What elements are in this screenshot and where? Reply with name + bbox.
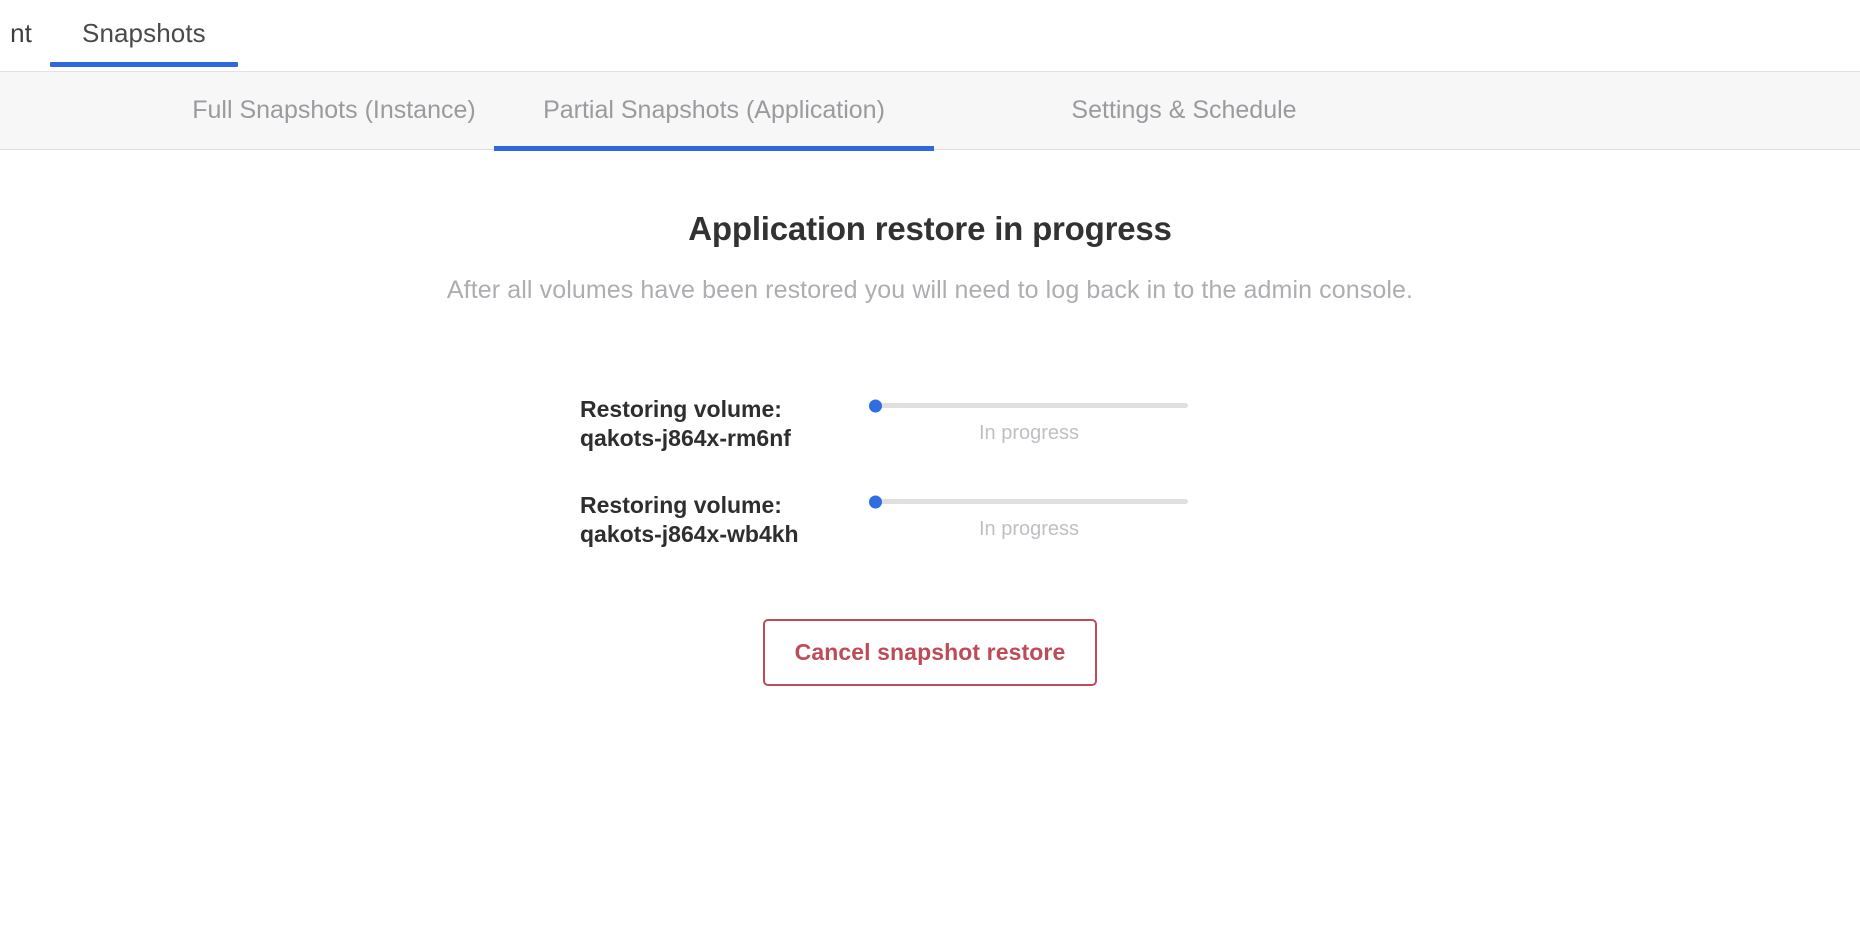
progress-bar-track (870, 403, 1188, 408)
primary-nav: nt Snapshots (0, 0, 1860, 71)
progress-bar-indicator-dot (869, 495, 882, 508)
volume-label: Restoring volume: qakots-j864x-rm6nf (580, 393, 870, 453)
tab-snapshots-active-underline (50, 62, 238, 67)
volume-label: Restoring volume: qakots-j864x-wb4kh (580, 489, 870, 549)
progress-bar-track (870, 499, 1188, 504)
page-subtitle: After all volumes have been restored you… (0, 248, 1860, 305)
tab-clipped-left[interactable]: nt (0, 0, 32, 67)
subtab-partial-snapshots-application[interactable]: Partial Snapshots (Application) (494, 72, 934, 150)
subtab-full-snapshots-instance-label: Full Snapshots (Instance) (192, 96, 475, 125)
restore-progress-panel: Application restore in progress After al… (0, 150, 1860, 686)
tab-snapshots[interactable]: Snapshots (68, 0, 220, 67)
volume-restore-row: Restoring volume: qakots-j864x-wb4kh In … (580, 489, 1280, 549)
tab-snapshots-label: Snapshots (82, 18, 206, 49)
volume-label-prefix: Restoring volume: (580, 491, 858, 520)
primary-nav-tabs: nt Snapshots (0, 0, 220, 67)
subtab-settings-and-schedule[interactable]: Settings & Schedule (1004, 72, 1364, 150)
volume-progress: In progress (870, 489, 1280, 541)
volume-name: qakots-j864x-wb4kh (580, 520, 858, 549)
subtab-partial-snapshots-application-label: Partial Snapshots (Application) (543, 96, 885, 125)
progress-status-text: In progress (870, 504, 1188, 541)
tab-clipped-left-label: nt (10, 18, 32, 49)
volume-restore-row: Restoring volume: qakots-j864x-rm6nf In … (580, 393, 1280, 453)
volume-name: qakots-j864x-rm6nf (580, 424, 858, 453)
cancel-snapshot-restore-button[interactable]: Cancel snapshot restore (763, 619, 1098, 686)
volume-label-prefix: Restoring volume: (580, 395, 858, 424)
subtab-partial-snapshots-application-underline (494, 146, 934, 151)
progress-status-text: In progress (870, 408, 1188, 445)
actions-row: Cancel snapshot restore (0, 585, 1860, 686)
page-title: Application restore in progress (0, 192, 1860, 248)
volume-restore-list: Restoring volume: qakots-j864x-rm6nf In … (580, 305, 1280, 585)
subtab-full-snapshots-instance[interactable]: Full Snapshots (Instance) (174, 72, 494, 150)
subtab-settings-and-schedule-label: Settings & Schedule (1071, 96, 1296, 125)
progress-bar-indicator-dot (869, 399, 882, 412)
secondary-nav: Full Snapshots (Instance) Partial Snapsh… (0, 71, 1860, 150)
volume-progress: In progress (870, 393, 1280, 445)
